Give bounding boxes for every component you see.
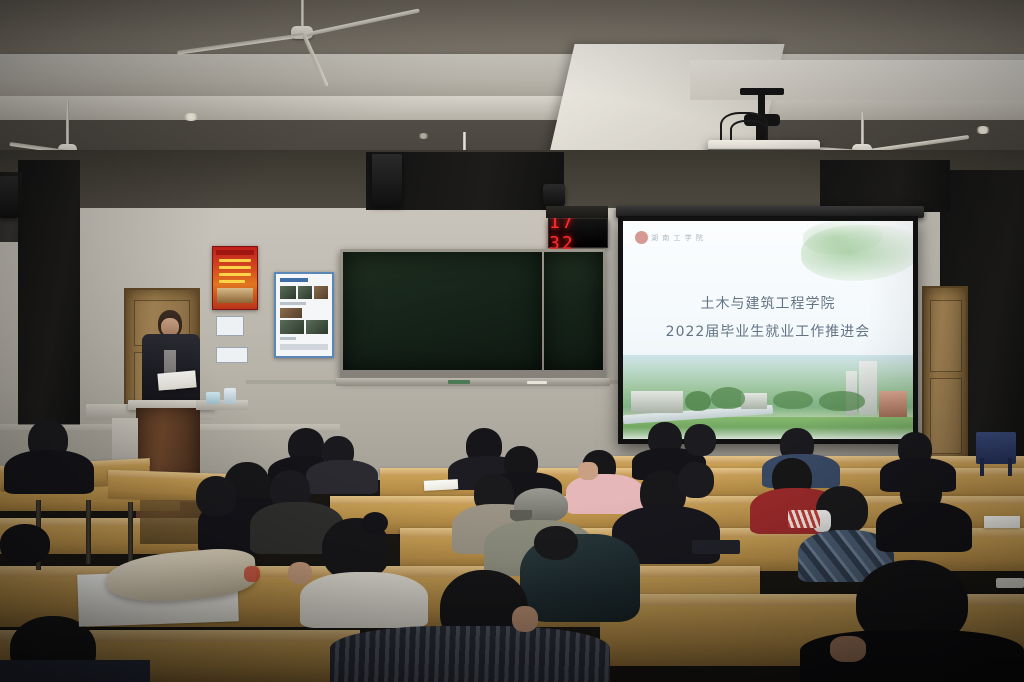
water-bottle[interactable] [224,388,236,404]
attendee-body [0,660,150,682]
attendee-head [678,462,714,498]
projection-screen[interactable]: 湖 南 工 学 院 土木与建筑工程学院 2022届毕业生就业工作推进会 2022… [618,216,918,444]
chair-leg [1008,458,1012,476]
attendee-head [196,476,236,516]
right-upper-dark-panel [820,160,950,212]
clock-bracket [546,206,608,218]
striped-bag[interactable] [788,510,820,528]
attendee-striped-shirt [330,626,610,682]
attendee-hand [830,636,866,662]
slide-title-line-2: 2022届毕业生就业工作推进会 [623,321,913,341]
attendee-arm [578,462,598,480]
chalk-eraser[interactable] [448,380,470,384]
university-seal-icon [635,231,648,244]
attendee-pink-top [566,474,644,514]
left-wall-curtain [18,160,80,425]
attendee-hand [512,606,538,632]
attendee-body [876,502,972,552]
attendee-head [684,424,716,456]
desk-notebook[interactable] [692,540,740,554]
presentation-slide: 湖 南 工 学 院 土木与建筑工程学院 2022届毕业生就业工作推进会 2022… [623,221,913,439]
desk-papers[interactable] [424,479,458,491]
chalk-stick[interactable] [527,381,547,384]
presenter-papers [157,370,196,390]
chalk-tray [336,378,610,386]
wall-speaker [543,184,565,206]
fire-safety-poster [212,246,258,310]
wall-speaker [372,154,402,206]
attendee-body [306,460,378,494]
slide-title-line-1: 土木与建筑工程学院 [623,293,913,313]
chair-leg [980,458,984,476]
ceiling-fan [236,0,436,60]
blackboard-panel-right[interactable] [544,252,603,370]
stage-table [196,400,248,410]
wall-notice-card [216,316,244,336]
hair-bun [362,512,388,534]
digital-wall-clock: 17 32 [548,218,608,248]
attendee-body [4,450,94,494]
lecture-hall-photo: 17 32 [0,0,1024,682]
water-bottle[interactable] [206,392,220,404]
university-logo: 湖 南 工 学 院 [635,231,704,244]
clock-time-text: 17 32 [549,212,607,254]
blackboard-panel-left[interactable] [343,252,542,370]
desk-leg [86,500,91,564]
blackboard [340,249,606,380]
wall-notice-card [216,347,248,363]
desk-papers[interactable] [996,578,1024,588]
wall-speaker [0,176,18,218]
attendee-head [0,524,50,564]
desk-papers[interactable] [984,516,1020,528]
desk-small-item[interactable] [244,566,260,582]
university-name-text: 湖 南 工 学 院 [651,233,704,243]
attendee-hand [288,562,312,584]
instruction-notice-board [274,272,334,358]
desk-leg [128,502,133,568]
attendee-head [534,526,578,560]
attendee-white-top [300,572,428,628]
